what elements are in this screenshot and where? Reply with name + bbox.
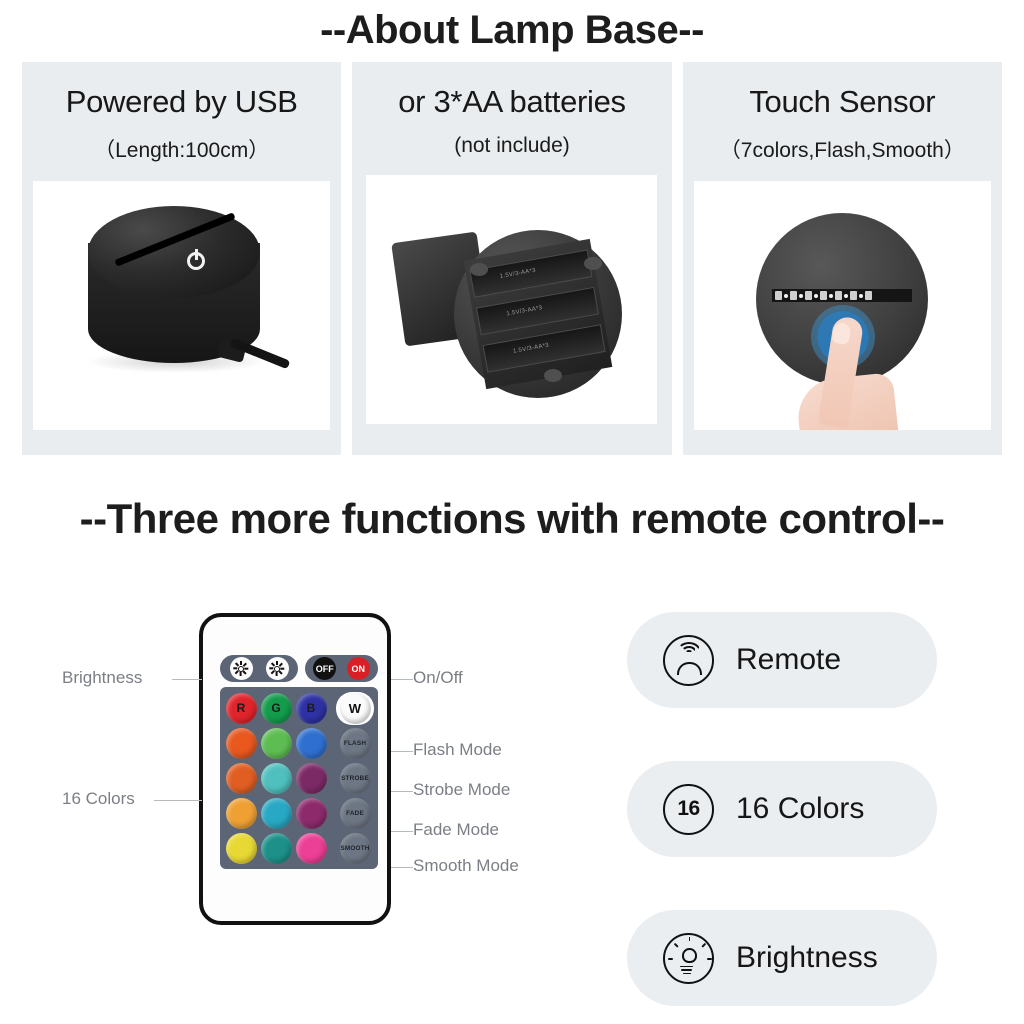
power-pill: OFF ON	[305, 655, 378, 682]
color-button-g[interactable]: G	[261, 693, 292, 724]
strobe-mode-button[interactable]: STROBE	[340, 763, 371, 794]
usb-lamp-base-photo	[33, 181, 330, 430]
remote-signal-icon	[663, 635, 714, 686]
brightness-pill	[220, 655, 298, 682]
battery-rating-label: 1.5V/3-AA*3	[507, 305, 544, 317]
acrylic-panel-slot	[115, 212, 236, 266]
callout-on-off: On/Off	[413, 668, 463, 688]
touch-sensor-photo	[694, 181, 991, 430]
panel-touch-sensor: Touch Sensor （7colors,Flash,Smooth）	[683, 62, 1002, 455]
remote-control: OFF ON R G B	[199, 613, 391, 925]
color-button-4[interactable]	[226, 728, 257, 759]
page-title-about-lamp-base: --About Lamp Base--	[0, 8, 1024, 53]
feature-label: 16 Colors	[736, 792, 864, 826]
on-button[interactable]: ON	[347, 657, 370, 680]
feature-badge: 16	[677, 797, 699, 821]
white-button-wrap: W	[336, 692, 374, 725]
white-button[interactable]: W	[340, 693, 371, 724]
color-buttons-area: R G B	[220, 687, 332, 869]
callout-brightness: Brightness	[62, 668, 142, 688]
color-button-r[interactable]: R	[226, 693, 257, 724]
panel-subtitle: （7colors,Flash,Smooth）	[720, 134, 965, 164]
color-button-7[interactable]	[226, 763, 257, 794]
callout-fade-mode: Fade Mode	[413, 820, 499, 840]
led-strip	[772, 289, 912, 302]
panel-title: or 3*AA batteries	[398, 84, 626, 120]
color-button-6[interactable]	[296, 728, 327, 759]
brightness-down-icon[interactable]	[266, 657, 289, 680]
lamp-base-panels: Powered by USB （Length:100cm） or 3*AA ba…	[22, 62, 1002, 455]
feature-card-remote: Remote	[627, 612, 937, 708]
off-button[interactable]: OFF	[313, 657, 336, 680]
color-button-11[interactable]	[261, 798, 292, 829]
battery-rating-label: 1.5V/3-AA*3	[500, 268, 537, 280]
feature-card-16-colors: 16 16 Colors	[627, 761, 937, 857]
color-button-12[interactable]	[296, 798, 327, 829]
panel-title: Powered by USB	[66, 84, 298, 120]
feature-label: Brightness	[736, 941, 878, 975]
panel-subtitle: (not include)	[454, 134, 570, 158]
leader-line	[391, 751, 413, 752]
leader-line	[391, 791, 413, 792]
panel-aa-batteries: or 3*AA batteries (not include) 1.5V/3-A…	[352, 62, 671, 455]
color-button-b[interactable]: B	[296, 693, 327, 724]
leader-line	[391, 831, 413, 832]
bulb-brightness-icon	[663, 933, 714, 984]
feature-cards: Remote 16 16 Colors Brightness	[627, 612, 937, 1006]
remote-button-grid: R G B W FLASH STRO	[220, 687, 378, 869]
product-infographic-page: --About Lamp Base-- Powered by USB （Leng…	[0, 0, 1024, 1024]
color-button-14[interactable]	[261, 833, 292, 864]
panel-title: Touch Sensor	[749, 84, 935, 120]
color-button-8[interactable]	[261, 763, 292, 794]
callout-strobe-mode: Strobe Mode	[413, 780, 510, 800]
mode-buttons-area: W FLASH STROBE FADE SMOOTH	[332, 687, 378, 869]
smooth-mode-button[interactable]: SMOOTH	[340, 833, 371, 864]
lamp-base-top	[88, 206, 260, 298]
fade-mode-button[interactable]: FADE	[340, 798, 371, 829]
brightness-up-icon[interactable]	[230, 657, 253, 680]
leader-line	[391, 679, 413, 680]
leader-line	[391, 867, 413, 868]
battery-compartment-photo: 1.5V/3-AA*3 1.5V/3-AA*3 1.5V/3-AA*3	[366, 175, 657, 424]
color-button-5[interactable]	[261, 728, 292, 759]
sixteen-circle-icon: 16	[663, 784, 714, 835]
callout-16-colors: 16 Colors	[62, 789, 135, 809]
callout-smooth-mode: Smooth Mode	[413, 856, 519, 876]
leader-line	[154, 800, 202, 801]
leader-line	[172, 679, 202, 680]
panel-powered-by-usb: Powered by USB （Length:100cm）	[22, 62, 341, 455]
color-button-13[interactable]	[226, 833, 257, 864]
callout-flash-mode: Flash Mode	[413, 740, 502, 760]
feature-label: Remote	[736, 643, 841, 677]
remote-top-row: OFF ON	[220, 655, 378, 682]
color-button-9[interactable]	[296, 763, 327, 794]
panel-subtitle: （Length:100cm）	[94, 134, 269, 164]
feature-card-brightness: Brightness	[627, 910, 937, 1006]
battery-rating-label: 1.5V/3-AA*3	[513, 343, 550, 355]
flash-mode-button[interactable]: FLASH	[340, 728, 371, 759]
color-button-10[interactable]	[226, 798, 257, 829]
power-icon	[187, 252, 205, 270]
color-button-15[interactable]	[296, 833, 327, 864]
page-title-three-more-functions: --Three more functions with remote contr…	[0, 495, 1024, 543]
